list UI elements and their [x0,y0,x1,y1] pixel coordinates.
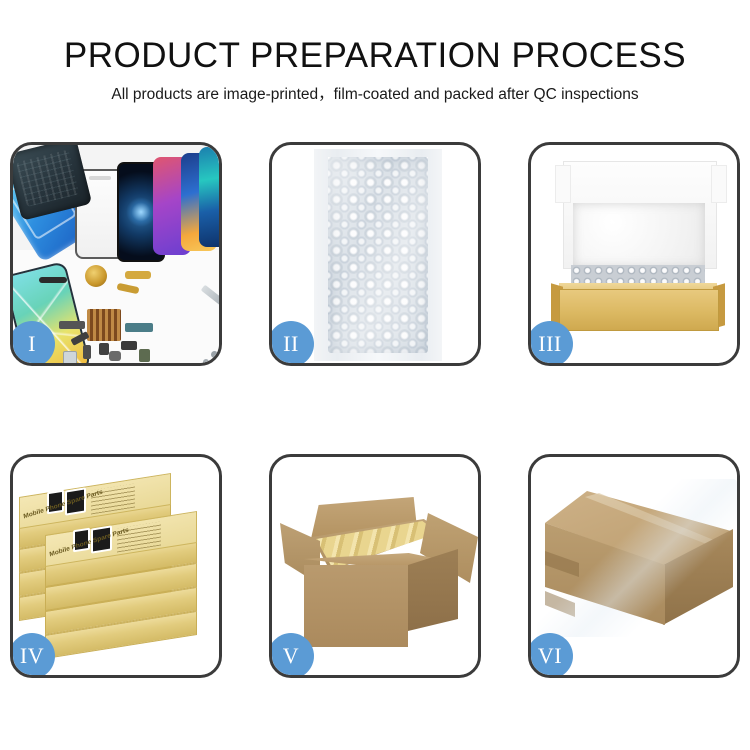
speaker-module-icon [99,343,109,355]
button-part-icon [83,345,91,359]
step-panel-5: V [269,454,481,678]
step-panel-3: III [528,142,740,366]
box-lid-tab-right [711,165,727,203]
earpiece-speaker-icon [39,277,67,283]
kraft-box-front-icon [559,289,719,331]
vibration-motor-icon [85,265,107,287]
foam-sheet-icon [573,203,705,267]
page-header: PRODUCT PREPARATION PROCESS All products… [0,0,750,105]
retail-box-stack-icon: Mobile Phone Spare Parts Mobile Phone Sp… [19,485,219,663]
carton-front-icon [304,565,408,647]
step-panel-1: I [10,142,222,366]
flex-cable-icon [125,271,151,279]
step-badge-5: V [269,633,314,678]
box-lid-tab-left [555,165,571,203]
connector-part-icon [59,321,85,329]
plastic-sheen-overlay [328,157,428,353]
page-title: PRODUCT PREPARATION PROCESS [0,0,750,76]
sim-tray-icon [109,351,121,361]
step-badge-1: I [10,321,55,366]
step-panel-2: II [269,142,481,366]
sensor-part-icon [63,351,77,363]
screw-icon-3 [203,359,209,363]
camera-module-icon [121,341,137,350]
page-subtitle: All products are image-printed，film-coat… [0,76,750,105]
step-panel-6: VI [528,454,740,678]
carton-shrink-wrap-overlay [537,479,737,637]
screw-tray-icon [87,309,121,341]
step-badge-2: II [269,321,314,366]
step-badge-3: III [528,321,573,366]
step-badge-6: VI [528,633,573,678]
phone-display-teal-icon [199,147,219,247]
step-badge-4: IV [10,633,55,678]
antenna-part-icon [125,323,153,332]
step-panel-4: Mobile Phone Spare Parts Mobile Phone Sp… [10,454,222,678]
process-steps-grid: I II III [10,142,740,678]
battery-connector-icon [139,349,150,362]
screw-icon [211,351,218,358]
